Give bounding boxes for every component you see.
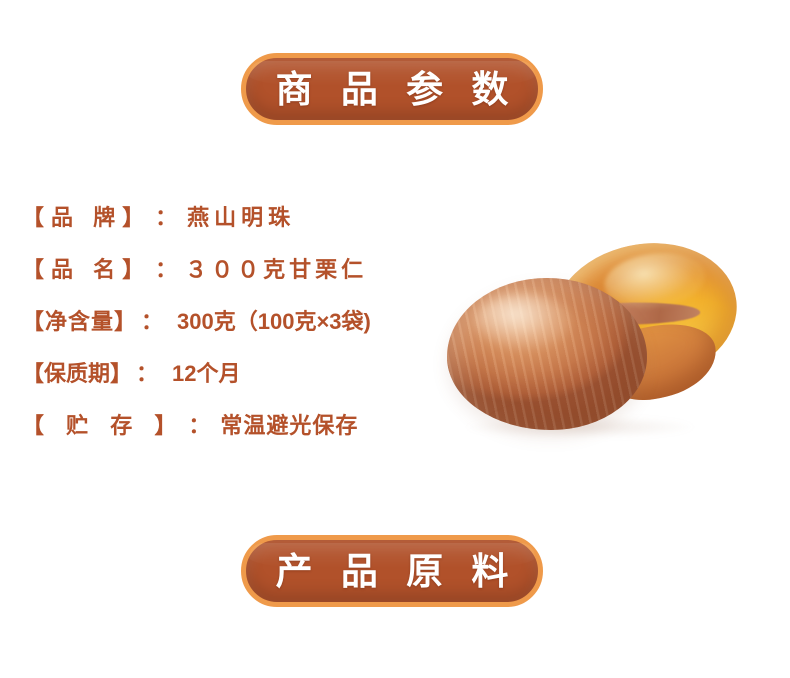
spec-row-shelf-life: 【保质期】 ： 12个月 (22, 356, 452, 408)
chestnut-whole (447, 278, 647, 430)
section-banner-product-material-title: 产 品 原 料 (267, 553, 518, 590)
section-banner-product-material: 产 品 原 料 (241, 535, 543, 607)
spec-row-storage: 【 贮 存 】 ： 常温避光保存 (22, 408, 452, 460)
chestnut-crack-line (475, 392, 601, 430)
spec-separator: ： (151, 252, 181, 284)
spec-row-net-weight: 【净含量】 ： 300克（100克×3袋) (22, 304, 452, 356)
spec-value-shelf-life: 12个月 (172, 356, 240, 388)
spec-value-brand: 燕山明珠 (187, 200, 295, 232)
spec-label-brand: 【品 牌】 (22, 200, 151, 232)
spec-value-product-name: ３００克甘栗仁 (185, 252, 367, 284)
section-banner-product-params-title: 商 品 参 数 (267, 71, 518, 108)
spec-value-storage: 常温避光保存 (220, 408, 358, 440)
spec-row-product-name: 【品 名】 ： ３００克甘栗仁 (22, 252, 452, 304)
section-banner-product-params: 商 品 参 数 (241, 53, 543, 125)
spec-value-net-weight: 300克（100克×3袋) (177, 304, 371, 336)
spec-label-product-name: 【品 名】 (22, 252, 151, 284)
spec-label-shelf-life: 【保质期】 (22, 356, 132, 388)
spec-separator: ： (151, 200, 181, 232)
spec-label-net-weight: 【净含量】 (22, 304, 137, 336)
product-photo-chestnut (447, 238, 747, 443)
product-spec-list: 【品 牌】 ： 燕山明珠 【品 名】 ： ３００克甘栗仁 【净含量】 ： 300… (22, 200, 452, 460)
spec-row-brand: 【品 牌】 ： 燕山明珠 (22, 200, 452, 252)
spec-separator: ： (184, 408, 214, 440)
spec-label-storage: 【 贮 存 】 (22, 408, 184, 440)
spec-separator: ： (132, 356, 162, 388)
spec-separator: ： (137, 304, 167, 336)
